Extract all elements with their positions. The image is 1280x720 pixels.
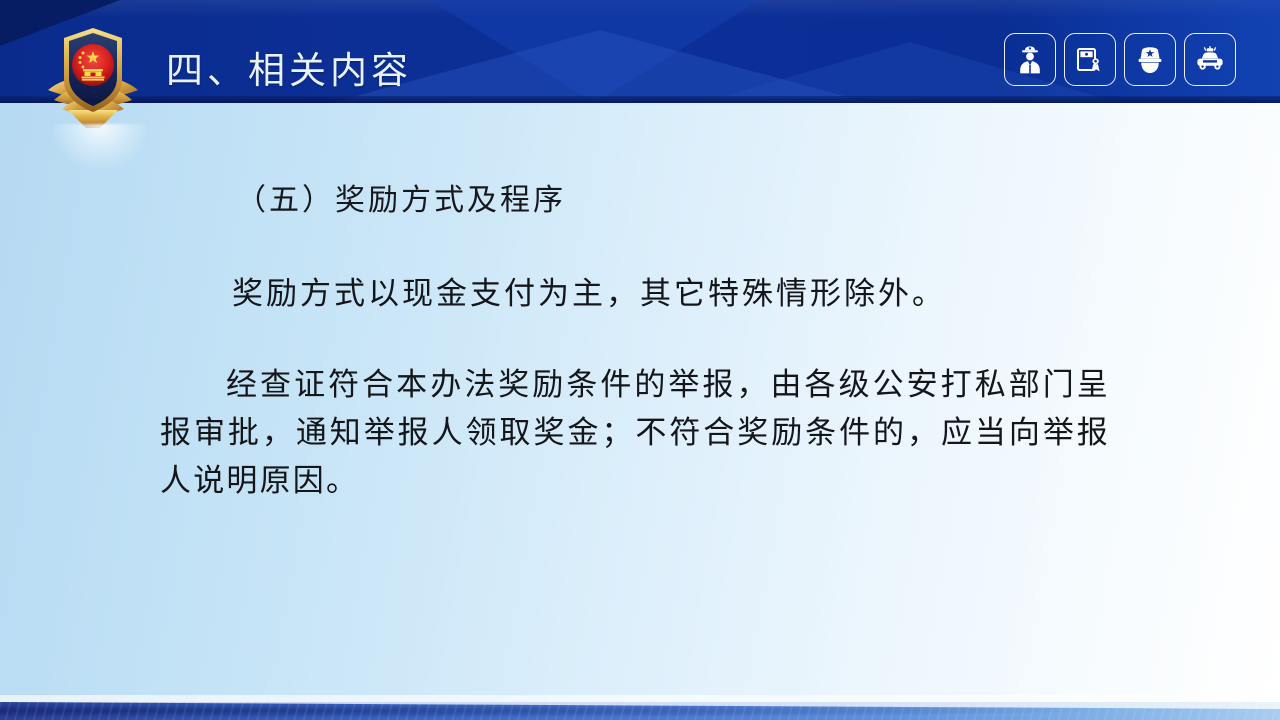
section-heading: （五）奖励方式及程序 — [236, 175, 566, 219]
footer-bar-slant-highlight — [0, 702, 1280, 709]
police-cap-icon — [1134, 44, 1166, 76]
header-sheen-decoration — [0, 0, 1280, 18]
body-paragraph-2: 经查证符合本办法奖励条件的举报，由各级公安打私部门呈报审批，通知举报人领取奖金；… — [160, 361, 1110, 505]
police-officer-icon-button[interactable] — [1004, 33, 1056, 86]
slide-content: （五）奖励方式及程序 奖励方式以现金支付为主，其它特殊情形除外。 经查证符合本办… — [0, 103, 1280, 702]
footer-bar — [0, 702, 1280, 720]
body-paragraph-2-text: 经查证符合本办法奖励条件的举报，由各级公安打私部门呈报审批，通知举报人领取奖金；… — [160, 367, 1110, 499]
page-title: 四、相关内容 — [166, 40, 412, 94]
badge-gate-base — [82, 79, 104, 81]
slide: 四、相关内容 — [0, 0, 1280, 720]
footer-separator — [0, 695, 1280, 702]
header-icon-row — [1004, 33, 1236, 86]
body-paragraph-1: 奖励方式以现金支付为主，其它特殊情形除外。 — [232, 268, 946, 313]
badge-gate — [82, 69, 105, 79]
police-cap-icon-button[interactable] — [1124, 33, 1176, 86]
police-car-icon — [1194, 44, 1226, 76]
header-facet-triangle-center — [430, 0, 760, 103]
header-bottom-edge — [0, 96, 1280, 103]
police-car-icon-button[interactable] — [1184, 33, 1236, 86]
police-officer-icon — [1014, 44, 1046, 76]
case-file-seal-icon-button[interactable] — [1064, 33, 1116, 86]
case-file-seal-icon — [1074, 44, 1106, 76]
